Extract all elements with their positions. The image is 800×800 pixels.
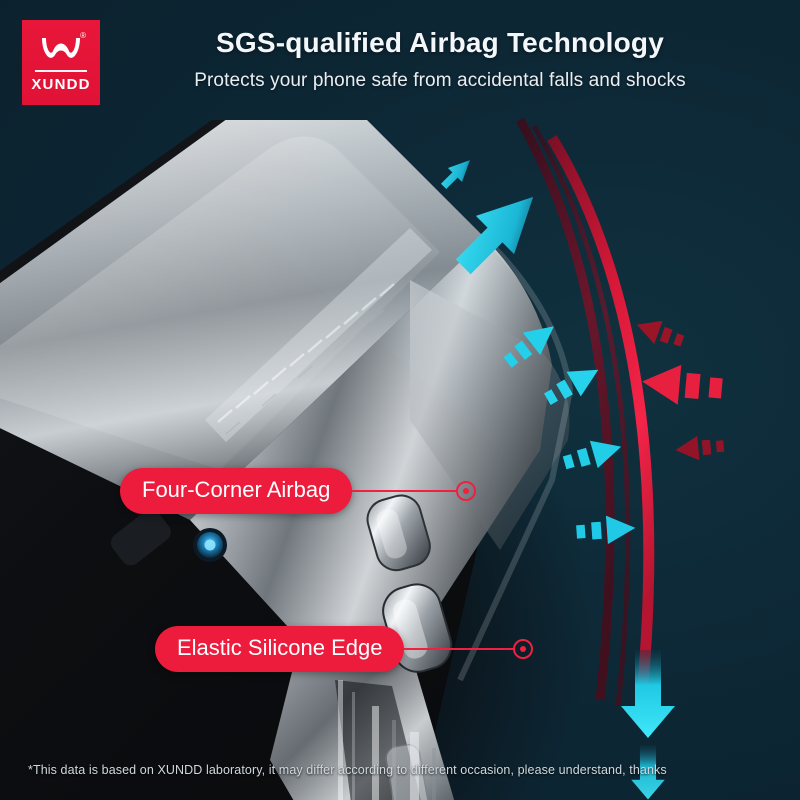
product-image	[0, 120, 640, 800]
callout-label: Four-Corner Airbag	[120, 468, 352, 514]
registered-trademark-icon: ®	[80, 32, 86, 40]
xundd-monogram-icon: ®	[38, 35, 84, 65]
callout-leader-line	[352, 490, 457, 492]
target-marker-icon	[456, 481, 476, 501]
header-text-block: SGS-qualified Airbag Technology Protects…	[110, 26, 770, 93]
subheadline: Protects your phone safe from accidental…	[110, 69, 770, 93]
logo-wordmark: XUNDD	[31, 76, 90, 93]
target-marker-icon	[513, 639, 533, 659]
callout-label: Elastic Silicone Edge	[155, 626, 404, 672]
header: ® XUNDD SGS-qualified Airbag Technology …	[0, 0, 800, 130]
callout-elastic-silicone-edge: Elastic Silicone Edge	[155, 626, 533, 672]
logo-divider	[35, 70, 87, 72]
brand-logo: ® XUNDD	[22, 20, 100, 105]
disclaimer-text: *This data is based on XUNDD laboratory,…	[28, 762, 667, 778]
callout-four-corner-airbag: Four-Corner Airbag	[120, 468, 476, 514]
promo-banner: ® XUNDD SGS-qualified Airbag Technology …	[0, 0, 800, 800]
callout-leader-line	[404, 648, 514, 650]
headline: SGS-qualified Airbag Technology	[110, 26, 770, 60]
